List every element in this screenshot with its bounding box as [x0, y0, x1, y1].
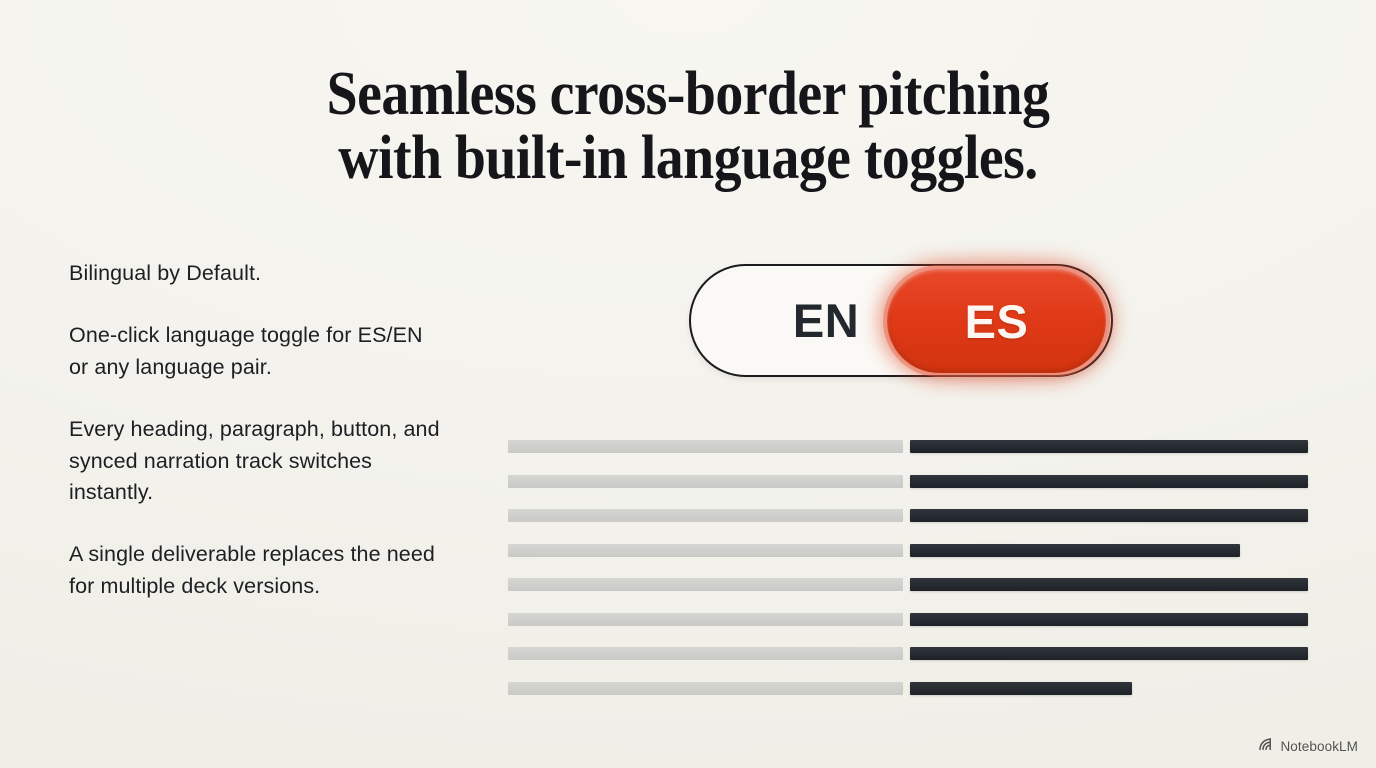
translation-row [508, 544, 1304, 557]
translated-text-bar [910, 647, 1308, 660]
page-title: Seamless cross-border pitching with buil… [0, 62, 1376, 190]
translation-row [508, 475, 1304, 488]
title-line-2: with built-in language toggles. [69, 126, 1307, 190]
slide-canvas: Seamless cross-border pitching with buil… [0, 0, 1376, 768]
translated-text-bar [910, 613, 1308, 626]
source-text-bar [508, 475, 903, 488]
translation-row [508, 578, 1304, 591]
translation-row [508, 509, 1304, 522]
translation-row [508, 682, 1304, 695]
source-text-bar [508, 613, 903, 626]
notebooklm-watermark: NotebookLM [1258, 737, 1358, 756]
notebooklm-icon [1258, 737, 1275, 756]
translation-rows [508, 440, 1304, 695]
toggle-option-es[interactable]: ES [887, 269, 1106, 373]
translated-text-bar [910, 440, 1308, 453]
translated-text-bar [910, 509, 1308, 522]
notebooklm-label: NotebookLM [1280, 739, 1358, 754]
source-text-bar [508, 509, 903, 522]
translated-text-bar [910, 475, 1308, 488]
body-paragraph-2: One-click language toggle for ES/EN or a… [69, 320, 444, 383]
toggle-knob-es[interactable]: ES [887, 269, 1106, 373]
translated-text-bar [910, 682, 1132, 695]
language-toggle[interactable]: EN ES [689, 261, 1121, 383]
translated-text-bar [910, 544, 1240, 557]
source-text-bar [508, 578, 903, 591]
source-text-bar [508, 440, 903, 453]
source-text-bar [508, 544, 903, 557]
body-copy-column: Bilingual by Default. One-click language… [69, 258, 444, 602]
body-paragraph-1: Bilingual by Default. [69, 258, 444, 289]
translated-text-bar [910, 578, 1308, 591]
source-text-bar [508, 682, 903, 695]
title-line-1: Seamless cross-border pitching [69, 62, 1307, 126]
body-paragraph-4: A single deliverable replaces the need f… [69, 539, 444, 602]
translation-row [508, 613, 1304, 626]
translation-row [508, 647, 1304, 660]
source-text-bar [508, 647, 903, 660]
translation-row [508, 440, 1304, 453]
body-paragraph-3: Every heading, paragraph, button, and sy… [69, 414, 444, 508]
